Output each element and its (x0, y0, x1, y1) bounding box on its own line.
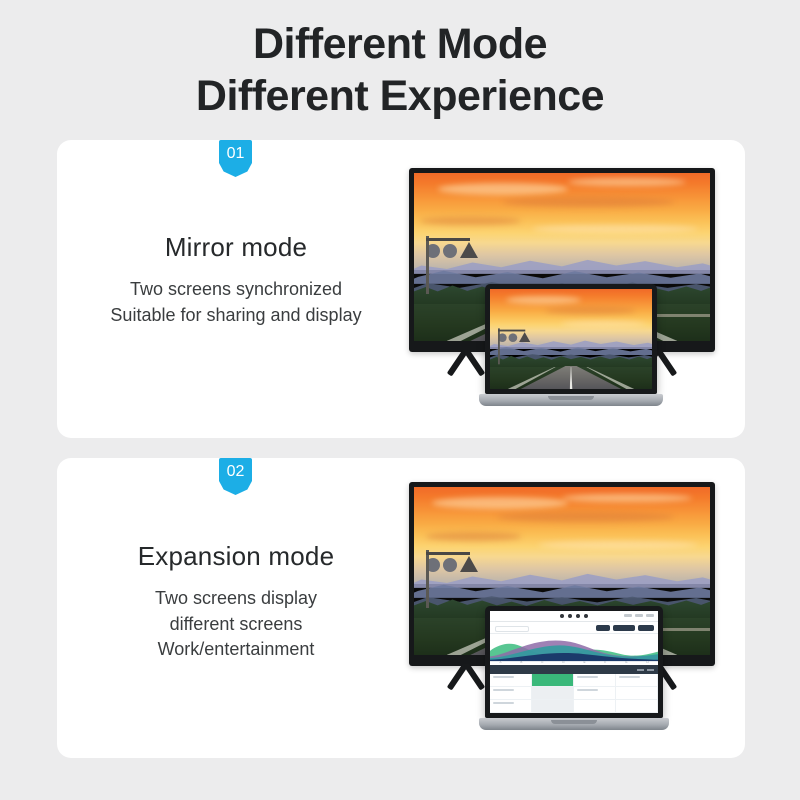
menu-dot-icon (576, 614, 580, 618)
road-sign-group (498, 332, 530, 342)
sign-crossbar (498, 330, 525, 332)
laptop-trackpad-notch (548, 396, 594, 400)
cloud-shape (545, 307, 636, 314)
dashboard-dark-strip (490, 665, 658, 674)
table-cell (490, 700, 532, 712)
laptop-screen (490, 289, 652, 389)
circle-sign-icon (509, 333, 518, 342)
expansion-mode-desc-line-3: Work/entertainment (71, 637, 401, 663)
laptop-trackpad-notch (551, 720, 597, 724)
cloud-shape (420, 217, 521, 225)
axis-tick-label: B (520, 660, 522, 664)
cloud-shape (562, 494, 692, 502)
table-cell (490, 674, 532, 686)
sign-crossbar (426, 552, 470, 555)
table-cell (616, 674, 658, 686)
axis-tick-label: G (625, 660, 627, 664)
laptop-device: A B C D E F G H (479, 606, 669, 730)
expansion-mode-description: Two screens display different screens Wo… (71, 586, 401, 663)
dashboard-table (490, 674, 658, 713)
road-sign-group (426, 242, 478, 258)
cloud-shape (426, 532, 521, 540)
axis-tick-label: C (541, 660, 543, 664)
sign-crossbar (426, 238, 470, 241)
table-cell (490, 687, 532, 699)
expansion-mode-title: Expansion mode (71, 541, 401, 572)
table-cell (574, 687, 616, 699)
axis-tick-label: A (499, 660, 501, 664)
chart-x-axis: A B C D E F G H (490, 661, 658, 663)
mirror-mode-title: Mirror mode (71, 232, 401, 263)
axis-tick-label: H (646, 660, 648, 664)
step-badge-02: 02 (219, 458, 252, 495)
menu-dot-icon (584, 614, 588, 618)
dashboard-search-input[interactable] (495, 626, 529, 632)
toolbar-button[interactable] (613, 625, 635, 631)
strip-control-icon[interactable] (637, 669, 644, 671)
mirror-mode-desc-line-1: Two screens synchronized (71, 277, 401, 303)
step-badge-01-label: 01 (227, 145, 245, 163)
analytics-dashboard: A B C D E F G H (490, 611, 658, 713)
table-row[interactable] (490, 687, 658, 700)
axis-tick-label: F (604, 660, 606, 664)
mirror-mode-desc-line-2: Suitable for sharing and display (71, 303, 401, 329)
dashboard-chart: A B C D E F G H (490, 634, 658, 665)
page-title: Different Mode Different Experience (0, 18, 800, 123)
table-cell (532, 700, 574, 712)
toolbar-button[interactable] (638, 625, 654, 631)
laptop-lid: A B C D E F G H (485, 606, 663, 718)
sunset-landscape-scene-mirrored (490, 289, 652, 389)
laptop-screen: A B C D E F G H (490, 611, 658, 713)
titlebar-action-icon[interactable] (646, 614, 654, 617)
laptop-lid (485, 284, 657, 394)
sign-pole (426, 236, 429, 294)
laptop-base (479, 394, 663, 406)
axis-tick-label: E (583, 660, 585, 664)
triangle-sign-icon (460, 556, 478, 572)
step-badge-02-label: 02 (227, 463, 245, 481)
table-cell (574, 674, 616, 686)
dashboard-titlebar-actions[interactable] (624, 614, 654, 617)
page-title-line-2: Different Experience (0, 70, 800, 122)
feature-card-expansion-mode: 02 Expansion mode Two screens display di… (57, 458, 745, 758)
cloud-shape (503, 197, 675, 207)
sign-pole (426, 550, 429, 608)
circle-sign-icon (443, 244, 457, 258)
menu-dot-icon (560, 614, 564, 618)
promo-page: Different Mode Different Experience 01 M… (0, 0, 800, 800)
table-cell (574, 700, 616, 712)
expansion-mode-illustration: A B C D E F G H (399, 458, 729, 758)
mirror-mode-description: Two screens synchronized Suitable for sh… (71, 277, 401, 328)
expansion-mode-desc-line-2: different screens (71, 612, 401, 638)
cloud-shape (561, 321, 645, 327)
expansion-mode-desc-line-1: Two screens display (71, 586, 401, 612)
cloud-shape (438, 183, 568, 195)
table-cell (532, 687, 574, 699)
road-sign-group (426, 556, 478, 572)
cloud-shape (432, 497, 568, 509)
laptop-device (479, 284, 663, 406)
table-cell (616, 687, 658, 699)
step-badge-01: 01 (219, 140, 252, 177)
page-title-line-1: Different Mode (253, 20, 547, 68)
titlebar-action-icon[interactable] (624, 614, 632, 617)
laptop-base (479, 718, 669, 730)
triangle-sign-icon (460, 242, 478, 258)
cloud-shape (506, 296, 581, 304)
feature-card-mirror-mode: 01 Mirror mode Two screens synchronized … (57, 140, 745, 438)
table-row[interactable] (490, 674, 658, 687)
stacked-area-chart (490, 637, 658, 661)
titlebar-action-icon[interactable] (635, 614, 643, 617)
mirror-mode-illustration (399, 140, 729, 438)
expansion-mode-text-block: Expansion mode Two screens display diffe… (71, 541, 401, 663)
cloud-shape (538, 541, 698, 549)
circle-sign-icon (443, 558, 457, 572)
mirror-mode-text-block: Mirror mode Two screens synchronized Sui… (71, 232, 401, 328)
triangle-sign-icon (519, 332, 530, 342)
toolbar-button[interactable] (596, 625, 610, 631)
strip-control-icon[interactable] (647, 669, 654, 671)
table-row[interactable] (490, 700, 658, 713)
menu-dot-icon (568, 614, 572, 618)
dashboard-titlebar (490, 611, 658, 622)
table-cell-highlight (532, 674, 574, 686)
sign-pole (498, 328, 500, 364)
table-cell (616, 700, 658, 712)
axis-tick-label: D (562, 660, 564, 664)
